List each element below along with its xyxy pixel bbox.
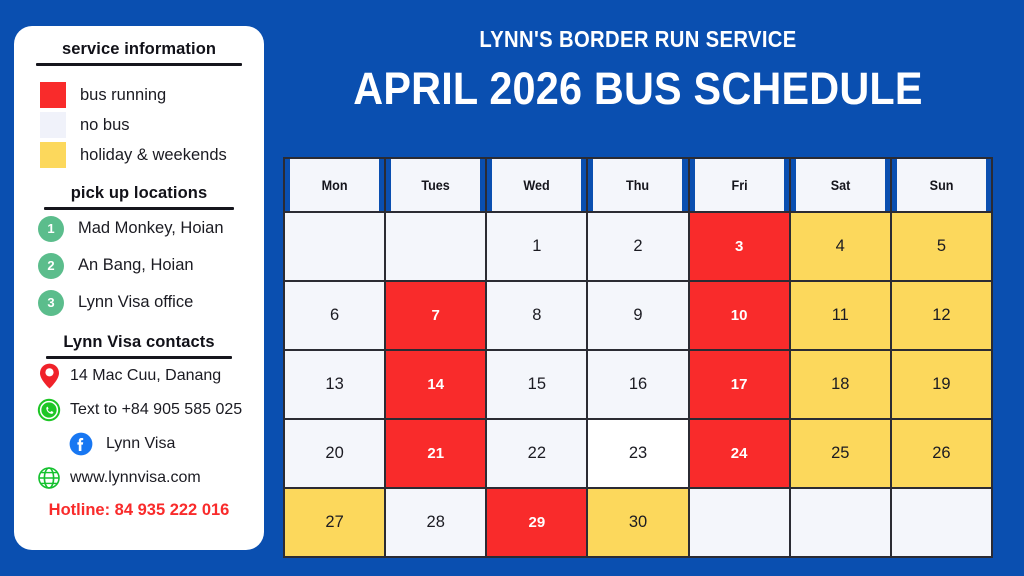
list-item: 2 An Bang, Hoian: [38, 247, 252, 284]
calendar-day-cell[interactable]: 24: [689, 419, 790, 488]
day-header-thu: Thu: [592, 158, 683, 212]
calendar-day-cell[interactable]: 20: [284, 419, 385, 488]
calendar-day-cell[interactable]: 9: [587, 281, 688, 350]
calendar-table: Mon Tues Wed Thu Fri Sat Sun 12345678910…: [283, 157, 993, 558]
calendar-week-row: 13141516171819: [284, 350, 992, 419]
legend-item: no bus: [40, 110, 252, 140]
calendar-empty-cell: [790, 488, 891, 557]
calendar-empty-cell: [385, 212, 486, 281]
page-title: APRIL 2026 BUS SCHEDULE: [311, 63, 964, 115]
pickup-label: Mad Monkey, Hoian: [78, 219, 224, 238]
calendar-day-cell[interactable]: 16: [587, 350, 688, 419]
calendar-day-cell[interactable]: 28: [385, 488, 486, 557]
calendar-day-cell[interactable]: 23: [587, 419, 688, 488]
calendar-header-row: Mon Tues Wed Thu Fri Sat Sun: [284, 158, 992, 212]
calendar-day-cell[interactable]: 22: [486, 419, 587, 488]
contact-label: www.lynnvisa.com: [70, 469, 201, 487]
pickup-label: Lynn Visa office: [78, 293, 193, 312]
legend-label: bus running: [80, 86, 166, 105]
pickup-badge-2: 2: [38, 253, 64, 279]
pick-up-locations-section: pick up locations 1 Mad Monkey, Hoian 2 …: [26, 184, 252, 321]
calendar-day-cell[interactable]: 19: [891, 350, 992, 419]
calendar-week-row: 6789101112: [284, 281, 992, 350]
day-header-mon: Mon: [289, 158, 380, 212]
calendar-empty-cell: [891, 488, 992, 557]
day-header-fri: Fri: [694, 158, 785, 212]
day-header-tues: Tues: [390, 158, 481, 212]
calendar-day-cell[interactable]: 2: [587, 212, 688, 281]
calendar-empty-cell: [284, 212, 385, 281]
calendar-day-cell[interactable]: 3: [689, 212, 790, 281]
calendar-day-cell[interactable]: 14: [385, 350, 486, 419]
day-header-sun: Sun: [896, 158, 987, 212]
legend-swatch-holiday: [40, 142, 66, 168]
calendar-day-cell[interactable]: 30: [587, 488, 688, 557]
map-pin-icon: [36, 363, 62, 389]
contacts-title: Lynn Visa contacts: [26, 333, 252, 356]
contacts-section: Lynn Visa contacts 14 Mac Cuu, Danang: [26, 333, 252, 520]
calendar-day-cell[interactable]: 13: [284, 350, 385, 419]
hotline-text: Hotline: 84 935 222 016: [26, 501, 252, 520]
legend-label: no bus: [80, 116, 130, 135]
calendar-week-row: 12345: [284, 212, 992, 281]
facebook-icon: [68, 431, 94, 457]
contact-facebook-row[interactable]: Lynn Visa: [68, 427, 252, 461]
pickup-label: An Bang, Hoian: [78, 256, 194, 275]
service-information-section: service information bus running no bus h…: [26, 40, 252, 170]
calendar-day-cell[interactable]: 21: [385, 419, 486, 488]
pickup-badge-1: 1: [38, 216, 64, 242]
calendar-day-cell[interactable]: 5: [891, 212, 992, 281]
calendar-day-cell[interactable]: 17: [689, 350, 790, 419]
poster-header: LYNN'S BORDER RUN SERVICE APRIL 2026 BUS…: [283, 26, 993, 115]
legend-item: bus running: [40, 80, 252, 110]
legend-list: bus running no bus holiday & weekends: [26, 80, 252, 170]
poster: service information bus running no bus h…: [0, 0, 1024, 576]
calendar-day-cell[interactable]: 15: [486, 350, 587, 419]
pickup-badge-3: 3: [38, 290, 64, 316]
info-card: service information bus running no bus h…: [14, 26, 264, 550]
calendar-day-cell[interactable]: 4: [790, 212, 891, 281]
service-information-title: service information: [26, 40, 252, 63]
whatsapp-icon: [36, 397, 62, 423]
calendar-day-cell[interactable]: 27: [284, 488, 385, 557]
globe-icon: [36, 465, 62, 491]
day-header-sat: Sat: [795, 158, 886, 212]
calendar-day-cell[interactable]: 25: [790, 419, 891, 488]
pick-up-locations-title: pick up locations: [26, 184, 252, 207]
contact-label: Lynn Visa: [106, 435, 175, 453]
calendar-day-cell[interactable]: 12: [891, 281, 992, 350]
legend-swatch-bus-running: [40, 82, 66, 108]
legend-item: holiday & weekends: [40, 140, 252, 170]
calendar-day-cell[interactable]: 8: [486, 281, 587, 350]
calendar-day-cell[interactable]: 11: [790, 281, 891, 350]
list-item: 3 Lynn Visa office: [38, 284, 252, 321]
contact-label: 14 Mac Cuu, Danang: [70, 367, 221, 385]
calendar-empty-cell: [689, 488, 790, 557]
contact-address-row: 14 Mac Cuu, Danang: [36, 359, 252, 393]
calendar-day-cell[interactable]: 1: [486, 212, 587, 281]
calendar-day-cell[interactable]: 29: [486, 488, 587, 557]
contact-label: Text to +84 905 585 025: [70, 401, 242, 419]
calendar-day-cell[interactable]: 18: [790, 350, 891, 419]
day-header-wed: Wed: [491, 158, 582, 212]
calendar-day-cell[interactable]: 26: [891, 419, 992, 488]
calendar-week-row: 27282930: [284, 488, 992, 557]
calendar-day-cell[interactable]: 6: [284, 281, 385, 350]
section-divider: [36, 63, 242, 66]
legend-label: holiday & weekends: [80, 146, 227, 165]
contact-website-row[interactable]: www.lynnvisa.com: [36, 461, 252, 495]
brand-kicker: LYNN'S BORDER RUN SERVICE: [326, 26, 951, 53]
legend-swatch-no-bus: [40, 112, 66, 138]
calendar-day-cell[interactable]: 7: [385, 281, 486, 350]
calendar-week-row: 20212223242526: [284, 419, 992, 488]
contact-whatsapp-row[interactable]: Text to +84 905 585 025: [36, 393, 252, 427]
list-item: 1 Mad Monkey, Hoian: [38, 210, 252, 247]
calendar-day-cell[interactable]: 10: [689, 281, 790, 350]
calendar-body: 1234567891011121314151617181920212223242…: [284, 212, 992, 557]
